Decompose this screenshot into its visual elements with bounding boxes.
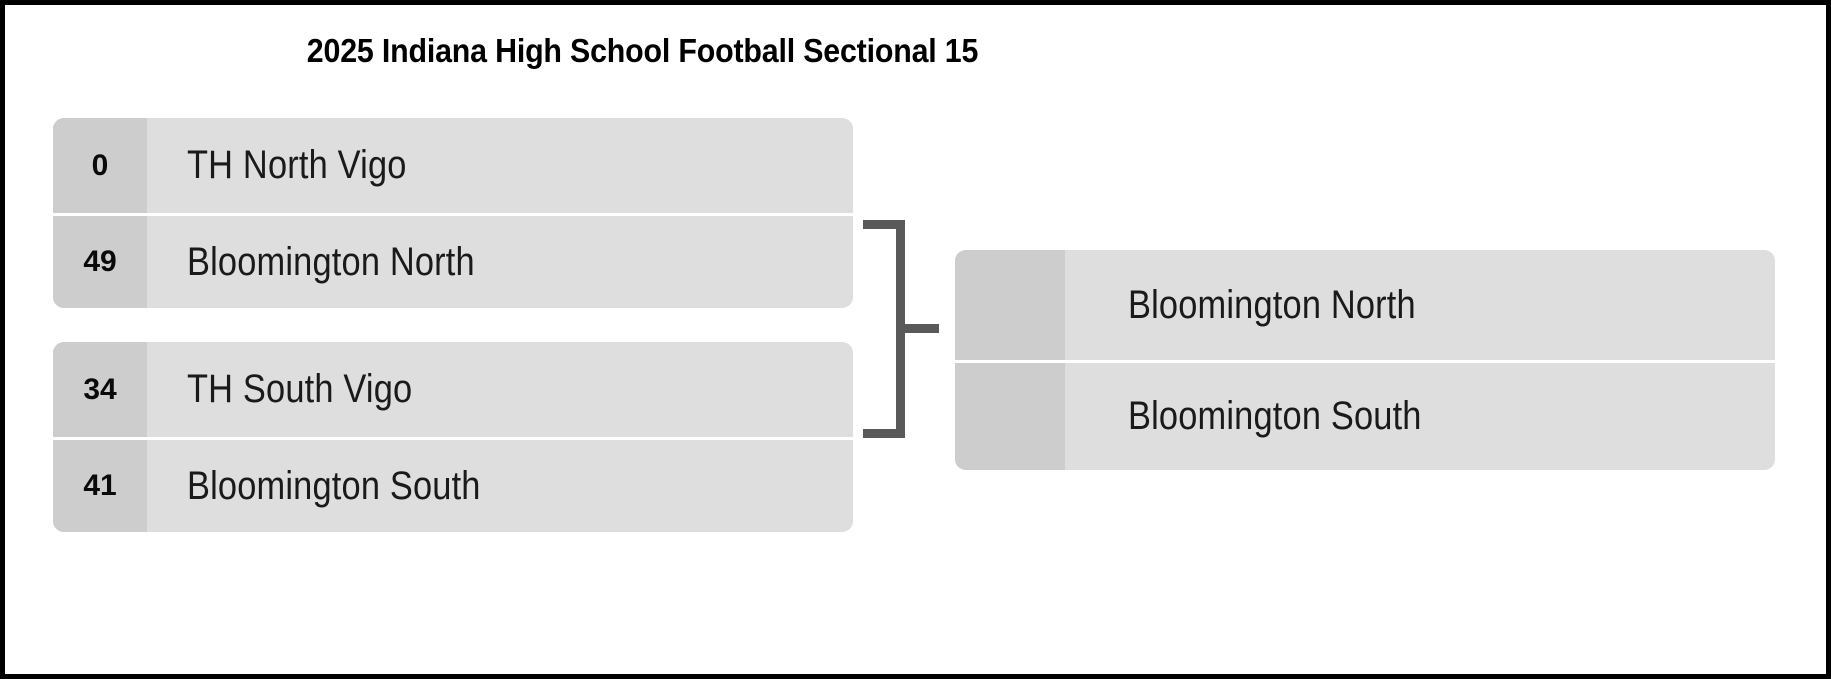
bracket-connector <box>863 220 943 438</box>
seed-team-label: Bloomington South <box>187 464 481 509</box>
connector-arm-top <box>863 220 905 229</box>
seed-team-label: TH North Vigo <box>187 143 407 188</box>
seed-team-label: Bloomington North <box>187 240 475 285</box>
page-title: 2025 Indiana High School Football Sectio… <box>84 31 1202 71</box>
connector-spine <box>896 220 905 438</box>
seed-team-label: Bloomington North <box>1128 283 1416 328</box>
seed-team-label: TH South Vigo <box>187 367 412 412</box>
seed-score <box>955 250 1065 360</box>
seed-score: 34 <box>53 342 147 437</box>
match-1[interactable]: 0 TH North Vigo 49 Bloomington North <box>53 118 853 308</box>
match-2[interactable]: 34 TH South Vigo 41 Bloomington South <box>53 342 853 532</box>
seed-team: Bloomington North <box>1065 250 1775 360</box>
seed-team: Bloomington North <box>147 216 853 308</box>
bracket-seed-row[interactable]: Bloomington North <box>955 250 1775 360</box>
connector-arm-bottom <box>863 429 905 438</box>
bracket-seed-row[interactable]: 34 TH South Vigo <box>53 342 853 437</box>
seed-team: TH South Vigo <box>147 342 853 437</box>
connector-stub <box>905 324 939 333</box>
bracket-canvas: 2025 Indiana High School Football Sectio… <box>5 5 1826 674</box>
bracket-seed-row[interactable]: 0 TH North Vigo <box>53 118 853 213</box>
bracket-seed-row[interactable]: Bloomington South <box>955 360 1775 470</box>
seed-team: TH North Vigo <box>147 118 853 213</box>
seed-score <box>955 363 1065 470</box>
seed-team: Bloomington South <box>1065 363 1775 470</box>
match-3[interactable]: Bloomington North Bloomington South <box>955 250 1775 470</box>
seed-team: Bloomington South <box>147 440 853 532</box>
seed-score: 0 <box>53 118 147 213</box>
seed-score: 41 <box>53 440 147 532</box>
seed-score: 49 <box>53 216 147 308</box>
bracket-seed-row[interactable]: 41 Bloomington South <box>53 437 853 532</box>
bracket-frame: 2025 Indiana High School Football Sectio… <box>0 0 1831 679</box>
bracket-seed-row[interactable]: 49 Bloomington North <box>53 213 853 308</box>
seed-team-label: Bloomington South <box>1128 394 1422 439</box>
